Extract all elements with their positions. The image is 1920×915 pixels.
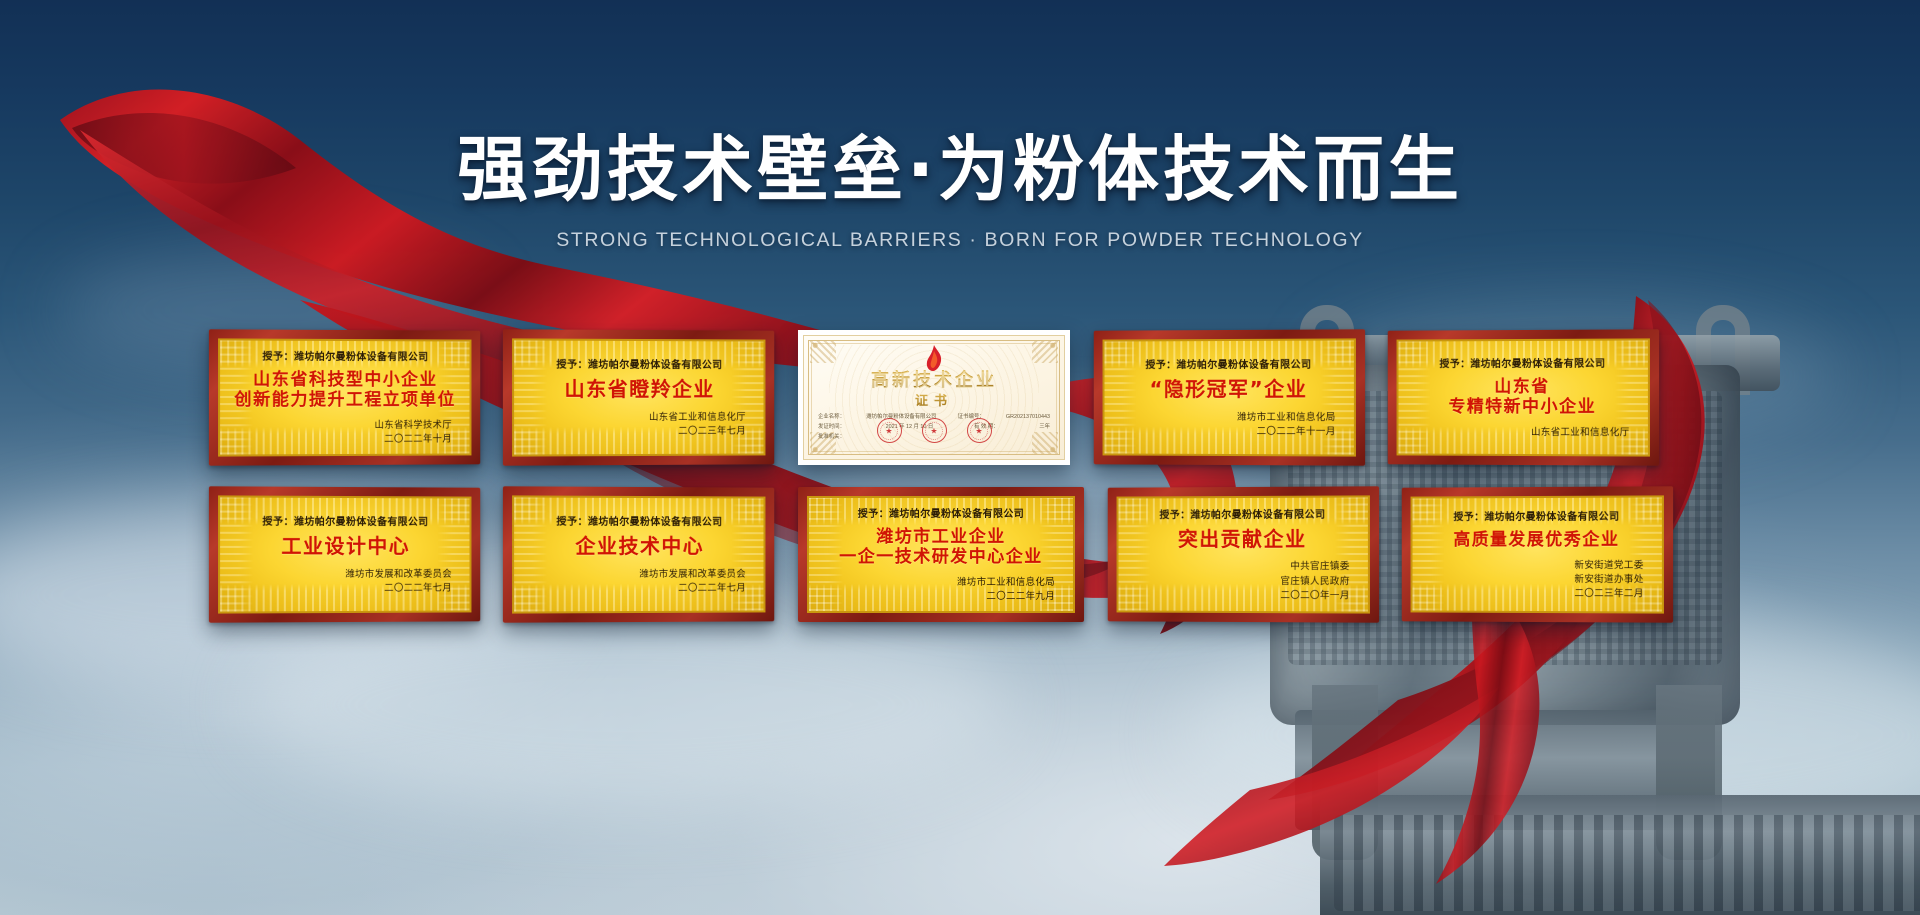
official-seal-icon (922, 418, 947, 443)
page-subtitle: STRONG TECHNOLOGICAL BARRIERS · BORN FOR… (0, 229, 1920, 252)
plaque-face: 授予：潍坊帕尔曼粉体设备有限公司 “隐形冠军”企业 潍坊市工业和信息化局 二〇二… (1103, 338, 1356, 456)
plaque-title-line-1: 山东省瞪羚企业 (526, 378, 751, 402)
plaque-issuer-line-2: 二〇二二年七月 (232, 582, 452, 597)
plaque-title: “隐形冠军”企业 (1116, 378, 1341, 402)
plaque-issuer: 潍坊市工业和信息化局 二〇二二年十一月 (1116, 410, 1341, 439)
plaque-title-line-1: 山东省科技型中小企业 (232, 369, 457, 389)
honor-item-1[interactable]: 授予：潍坊帕尔曼粉体设备有限公司 山东省科技型中小企业 创新能力提升工程立项单位… (209, 329, 480, 465)
honor-item-8[interactable]: 授予：潍坊帕尔曼粉体设备有限公司 潍坊市工业企业 一企一技术研发中心企业 潍坊市… (798, 487, 1084, 622)
plaque-text: 授予：潍坊帕尔曼粉体设备有限公司 潍坊市工业企业 一企一技术研发中心企业 潍坊市… (821, 505, 1061, 605)
honor-item-6[interactable]: 授予：潍坊帕尔曼粉体设备有限公司 工业设计中心 潍坊市发展和改革委员会 二〇二二… (209, 486, 480, 622)
plaque-title: 潍坊市工业企业 一企一技术研发中心企业 (821, 527, 1061, 567)
plaque-title-line-1: 潍坊市工业企业 (821, 527, 1061, 547)
plaque-issuer-line-1: 山东省科学技术厅 (232, 419, 452, 434)
plaque-award-to: 授予：潍坊帕尔曼粉体设备有限公司 (1116, 356, 1341, 372)
plaque-issuer-line-1: 潍坊市发展和改革委员会 (232, 567, 452, 582)
plaque-issuer-line-2: 二〇二二年十一月 (1116, 425, 1335, 440)
official-seal-icon (967, 418, 992, 443)
honor-item-7[interactable]: 授予：潍坊帕尔曼粉体设备有限公司 企业技术中心 潍坊市发展和改革委员会 二〇二二… (503, 486, 774, 622)
award-plaque[interactable]: 授予：潍坊帕尔曼粉体设备有限公司 高质量发展优秀企业 新安街道党工委 新安街道办… (1402, 486, 1673, 622)
plaque-face: 授予：潍坊帕尔曼粉体设备有限公司 企业技术中心 潍坊市发展和改革委员会 二〇二二… (512, 495, 765, 613)
plaque-title-line-1: 高质量发展优秀企业 (1424, 529, 1649, 549)
official-seal-icon (877, 418, 902, 443)
plaque-title: 高质量发展优秀企业 (1424, 529, 1649, 549)
plaque-text: 授予：潍坊帕尔曼粉体设备有限公司 “隐形冠军”企业 潍坊市工业和信息化局 二〇二… (1116, 356, 1341, 440)
plaque-award-to: 授予：潍坊帕尔曼粉体设备有限公司 (526, 356, 751, 372)
award-plaque[interactable]: 授予：潍坊帕尔曼粉体设备有限公司 山东省科技型中小企业 创新能力提升工程立项单位… (209, 329, 480, 465)
plaque-issuer: 山东省工业和信息化厅 二〇二三年七月 (526, 410, 751, 439)
plaque-issuer: 山东省科学技术厅 二〇二二年十月 (232, 419, 457, 448)
plaque-face: 授予：潍坊帕尔曼粉体设备有限公司 潍坊市工业企业 一企一技术研发中心企业 潍坊市… (807, 496, 1075, 613)
plaque-face: 授予：潍坊帕尔曼粉体设备有限公司 山东省瞪羚企业 山东省工业和信息化厅 二〇二三… (512, 338, 765, 456)
plaque-face: 授予：潍坊帕尔曼粉体设备有限公司 山东省科技型中小企业 创新能力提升工程立项单位… (218, 338, 471, 456)
plaque-title-line-2: 一企一技术研发中心企业 (821, 547, 1061, 567)
headline-block: 强劲技术壁垒·为粉体技术而生 STRONG TECHNOLOGICAL BARR… (0, 132, 1920, 252)
honor-item-9[interactable]: 授予：潍坊帕尔曼粉体设备有限公司 突出贡献企业 中共官庄镇委 官庄镇人民政府 二… (1108, 486, 1379, 622)
plaque-title: 企业技术中心 (526, 535, 751, 559)
honor-item-4[interactable]: 授予：潍坊帕尔曼粉体设备有限公司 “隐形冠军”企业 潍坊市工业和信息化局 二〇二… (1094, 329, 1365, 465)
plaque-text: 授予：潍坊帕尔曼粉体设备有限公司 工业设计中心 潍坊市发展和改革委员会 二〇二二… (232, 513, 457, 597)
plaque-title-line-2: 创新能力提升工程立项单位 (232, 390, 457, 410)
award-plaque[interactable]: 授予：潍坊帕尔曼粉体设备有限公司 工业设计中心 潍坊市发展和改革委员会 二〇二二… (209, 486, 480, 622)
plaque-award-to: 授予：潍坊帕尔曼粉体设备有限公司 (232, 347, 457, 363)
plaque-title: 山东省 专精特新中小企业 (1410, 377, 1635, 417)
plaque-issuer: 新安街道党工委 新安街道办事处 二〇二三年二月 (1424, 559, 1649, 602)
award-plaque[interactable]: 授予：潍坊帕尔曼粉体设备有限公司 山东省瞪羚企业 山东省工业和信息化厅 二〇二三… (503, 329, 774, 465)
plaque-title-line-2: 专精特新中小企业 (1410, 397, 1635, 417)
plaque-face: 授予：潍坊帕尔曼粉体设备有限公司 突出贡献企业 中共官庄镇委 官庄镇人民政府 二… (1117, 495, 1370, 613)
plaque-title: 工业设计中心 (232, 535, 457, 559)
plaque-issuer-line-2: 官庄镇人民政府 (1130, 574, 1349, 589)
plaque-text: 授予：潍坊帕尔曼粉体设备有限公司 山东省瞪羚企业 山东省工业和信息化厅 二〇二三… (526, 356, 751, 440)
plaque-face: 授予：潍坊帕尔曼粉体设备有限公司 工业设计中心 潍坊市发展和改革委员会 二〇二二… (218, 495, 471, 613)
honors-row-2: 授予：潍坊帕尔曼粉体设备有限公司 工业设计中心 潍坊市发展和改革委员会 二〇二二… (210, 487, 1690, 622)
honor-item-10[interactable]: 授予：潍坊帕尔曼粉体设备有限公司 高质量发展优秀企业 新安街道党工委 新安街道办… (1402, 486, 1673, 622)
page-title: 强劲技术壁垒·为粉体技术而生 (0, 132, 1920, 209)
plaque-title: 山东省科技型中小企业 创新能力提升工程立项单位 (232, 369, 457, 409)
plaque-award-to: 授予：潍坊帕尔曼粉体设备有限公司 (1130, 505, 1355, 521)
certificate-seals (804, 418, 1064, 443)
plaque-issuer: 潍坊市发展和改革委员会 二〇二二年七月 (232, 567, 457, 596)
plaque-issuer-line-2: 二〇二二年十月 (232, 433, 452, 448)
plaque-award-to: 授予：潍坊帕尔曼粉体设备有限公司 (1410, 354, 1635, 370)
plaque-issuer-line-1: 山东省工业和信息化厅 (1410, 426, 1629, 441)
plaque-title-line-1: 山东省 (1410, 377, 1635, 397)
plaque-text: 授予：潍坊帕尔曼粉体设备有限公司 高质量发展优秀企业 新安街道党工委 新安街道办… (1424, 507, 1649, 602)
plaque-issuer-line-1: 潍坊市工业和信息化局 (821, 576, 1055, 590)
award-plaque[interactable]: 授予：潍坊帕尔曼粉体设备有限公司 潍坊市工业企业 一企一技术研发中心企业 潍坊市… (798, 487, 1084, 622)
plaque-title-line-1: “隐形冠军”企业 (1116, 378, 1341, 402)
plaque-issuer-line-2: 二〇二二年七月 (526, 582, 746, 597)
plaque-award-to: 授予：潍坊帕尔曼粉体设备有限公司 (526, 513, 751, 529)
plaque-face: 授予：潍坊帕尔曼粉体设备有限公司 高质量发展优秀企业 新安街道党工委 新安街道办… (1411, 495, 1664, 613)
high-tech-enterprise-certificate[interactable]: 高新技术企业 证书 企业名称： 潍坊帕尔曼粉体设备有限公司 证书编号： GR20… (798, 330, 1070, 465)
award-plaque[interactable]: 授予：潍坊帕尔曼粉体设备有限公司 山东省 专精特新中小企业 山东省工业和信息化厅 (1388, 329, 1659, 465)
plaque-issuer-line-2: 新安街道办事处 (1424, 573, 1643, 588)
plaque-issuer: 中共官庄镇委 官庄镇人民政府 二〇二〇年一月 (1130, 560, 1355, 603)
certificate-title: 高新技术企业 (804, 366, 1064, 392)
plaque-issuer: 潍坊市发展和改革委员会 二〇二二年七月 (526, 567, 751, 596)
plaque-issuer-line-1: 中共官庄镇委 (1130, 560, 1349, 574)
award-plaque[interactable]: 授予：潍坊帕尔曼粉体设备有限公司 突出贡献企业 中共官庄镇委 官庄镇人民政府 二… (1108, 486, 1379, 622)
award-plaque[interactable]: 授予：潍坊帕尔曼粉体设备有限公司 “隐形冠军”企业 潍坊市工业和信息化局 二〇二… (1094, 329, 1365, 465)
honor-item-5[interactable]: 授予：潍坊帕尔曼粉体设备有限公司 山东省 专精特新中小企业 山东省工业和信息化厅 (1388, 329, 1659, 465)
plaque-issuer-line-1: 潍坊市工业和信息化局 (1116, 410, 1335, 425)
plaque-award-to: 授予：潍坊帕尔曼粉体设备有限公司 (232, 513, 457, 529)
banner-stage: 强劲技术壁垒·为粉体技术而生 STRONG TECHNOLOGICAL BARR… (0, 0, 1920, 915)
plaque-title: 山东省瞪羚企业 (526, 378, 751, 402)
certificate-subtitle: 证书 (804, 390, 1064, 409)
honor-item-2[interactable]: 授予：潍坊帕尔曼粉体设备有限公司 山东省瞪羚企业 山东省工业和信息化厅 二〇二三… (503, 329, 774, 465)
plaque-issuer-line-1: 山东省工业和信息化厅 (526, 410, 746, 425)
plaque-title: 突出贡献企业 (1130, 528, 1355, 552)
award-plaque[interactable]: 授予：潍坊帕尔曼粉体设备有限公司 企业技术中心 潍坊市发展和改革委员会 二〇二二… (503, 486, 774, 622)
plaque-issuer-line-3: 二〇二〇年一月 (1130, 589, 1349, 604)
plaque-text: 授予：潍坊帕尔曼粉体设备有限公司 山东省科技型中小企业 创新能力提升工程立项单位… (232, 347, 457, 447)
plaque-issuer-line-2: 二〇二三年七月 (526, 425, 746, 440)
plaque-issuer: 山东省工业和信息化厅 (1410, 426, 1635, 441)
plaque-title-line-1: 突出贡献企业 (1130, 528, 1355, 552)
plaque-issuer: 潍坊市工业和信息化局 二〇二二年九月 (821, 576, 1061, 605)
plaque-title-line-1: 工业设计中心 (232, 535, 457, 559)
plaque-issuer-line-2: 二〇二二年九月 (821, 590, 1055, 604)
plaque-issuer-line-1: 新安街道党工委 (1424, 559, 1643, 573)
plaque-text: 授予：潍坊帕尔曼粉体设备有限公司 企业技术中心 潍坊市发展和改革委员会 二〇二二… (526, 513, 751, 597)
honor-item-3[interactable]: 高新技术企业 证书 企业名称： 潍坊帕尔曼粉体设备有限公司 证书编号： GR20… (798, 330, 1070, 465)
honors-grid: 授予：潍坊帕尔曼粉体设备有限公司 山东省科技型中小企业 创新能力提升工程立项单位… (210, 330, 1690, 622)
honors-row-1: 授予：潍坊帕尔曼粉体设备有限公司 山东省科技型中小企业 创新能力提升工程立项单位… (210, 330, 1690, 465)
plaque-title-line-1: 企业技术中心 (526, 535, 751, 559)
plaque-issuer-line-1: 潍坊市发展和改革委员会 (526, 567, 746, 582)
plaque-face: 授予：潍坊帕尔曼粉体设备有限公司 山东省 专精特新中小企业 山东省工业和信息化厅 (1397, 338, 1650, 456)
plaque-issuer-line-3: 二〇二三年二月 (1424, 587, 1643, 602)
plaque-award-to: 授予：潍坊帕尔曼粉体设备有限公司 (1424, 507, 1649, 523)
plaque-text: 授予：潍坊帕尔曼粉体设备有限公司 山东省 专精特新中小企业 山东省工业和信息化厅 (1410, 354, 1635, 440)
certificate-face: 高新技术企业 证书 企业名称： 潍坊帕尔曼粉体设备有限公司 证书编号： GR20… (803, 335, 1065, 460)
plaque-text: 授予：潍坊帕尔曼粉体设备有限公司 突出贡献企业 中共官庄镇委 官庄镇人民政府 二… (1130, 505, 1355, 603)
plaque-award-to: 授予：潍坊帕尔曼粉体设备有限公司 (821, 505, 1061, 520)
